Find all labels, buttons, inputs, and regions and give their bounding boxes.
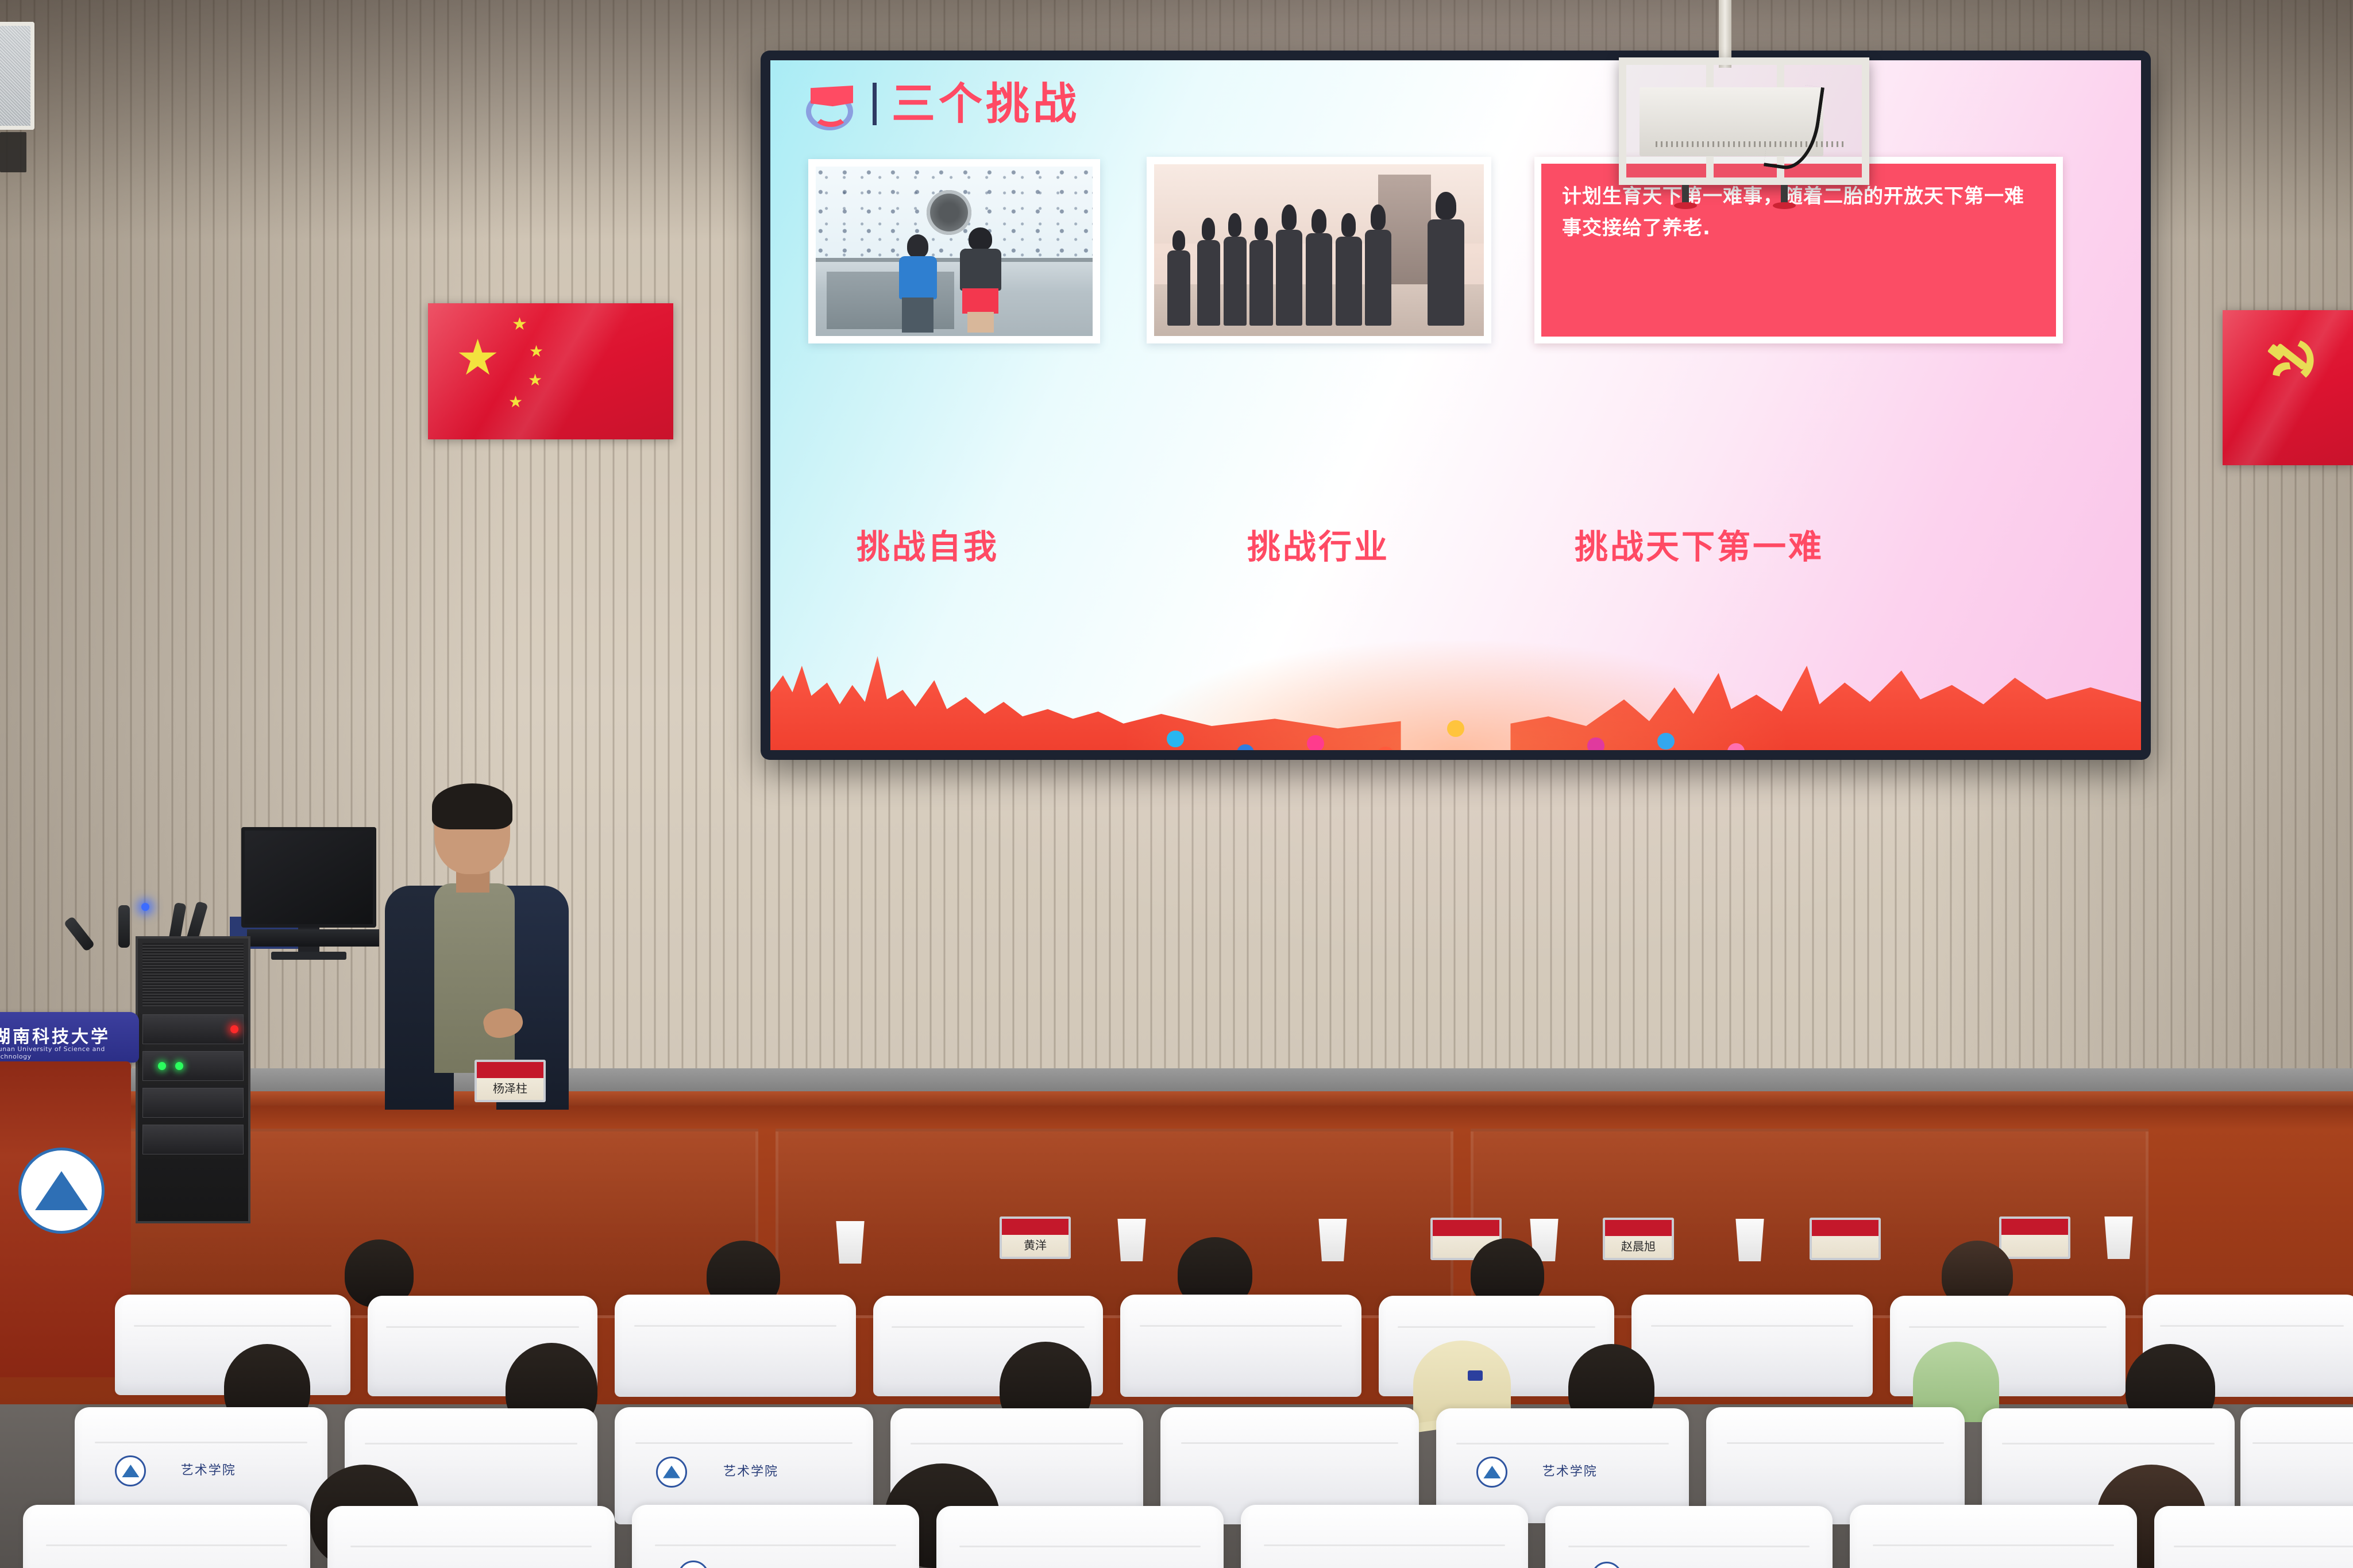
microphone [118,905,130,948]
audience-chair [936,1506,1224,1568]
chair-cover-text: 艺术学院 [1542,1461,1598,1480]
projector-foot [1682,185,1689,204]
slide-footer-graphic [770,578,2141,750]
audience-chair [1241,1505,1528,1568]
slide-caption-3: 挑战天下第一难 [1575,520,1824,568]
slide-header: 三个挑战 [803,76,1080,132]
audience-chair [1120,1295,1361,1397]
art-college-logo-icon [1476,1457,1507,1488]
audience-chair [1631,1295,1873,1397]
audience-chair [2154,1506,2353,1568]
art-college-logo-icon [656,1457,687,1488]
audience-seating: 艺术学院 艺术学院 艺术学院 艺术学院 艺术学院 [0,1235,2353,1568]
desktop-monitor [241,827,376,928]
chair-cover-text: 艺术学院 [723,1461,778,1480]
projector-foot [1781,185,1788,204]
audience-chair [615,1295,856,1397]
art-college-logo-icon [678,1561,709,1568]
jumping-silhouettes [1154,590,1757,734]
cpc-party-flag [2223,310,2353,465]
chair-cover-text: 艺术学院 [753,1566,808,1568]
communist-youth-league-emblem-icon [803,76,858,132]
title-divider-bar [873,83,877,125]
art-college-logo-icon [115,1455,146,1486]
slide-photo-elderly-queue [1147,157,1491,343]
audience-chair [1850,1505,2137,1568]
podium-university-name-en: Hunan University of Science and Technolo… [0,1045,139,1060]
lecture-hall-scene: ★ ★ ★ ★ ★ [0,0,2353,1568]
audience-chair [23,1505,310,1568]
slide-callout-text: 计划生育天下第一难事，随着二胎的开放天下第一难事交接给了养老. [1562,181,2039,244]
slide-caption-1: 挑战自我 [857,520,999,568]
ceiling-projector [1619,57,1869,185]
podium-nameplate: 湖南科技大学 Hunan University of Science and T… [0,1012,139,1063]
av-equipment-rack [136,936,250,1223]
podium-university-name-cn: 湖南科技大学 [0,1022,110,1048]
slide-title: 三个挑战 [892,82,1080,126]
audience-chair: 艺术学院 [1545,1506,1833,1568]
art-college-logo-icon [1591,1562,1622,1568]
projector-vents [1656,141,1845,147]
presentation-slide: 三个挑战 [770,60,2141,750]
keyboard[interactable] [247,929,379,947]
audience-chair: 艺术学院 [632,1505,919,1568]
rack-standby-led [141,903,149,911]
university-logo-icon [18,1148,105,1234]
wall-fixture-dark [0,132,26,172]
table-name-card: 杨泽柱 [475,1060,546,1102]
slide-photo-kitchen [808,159,1100,343]
projection-screen: 三个挑战 [761,51,2151,760]
audience-chair [327,1506,615,1568]
chair-cover-text: 艺术学院 [181,1460,236,1478]
hammer-sickle-icon [2255,331,2329,400]
china-national-flag: ★ ★ ★ ★ ★ [428,303,673,439]
slide-caption-2: 挑战行业 [1247,520,1390,568]
wall-speaker-icon [0,22,34,130]
